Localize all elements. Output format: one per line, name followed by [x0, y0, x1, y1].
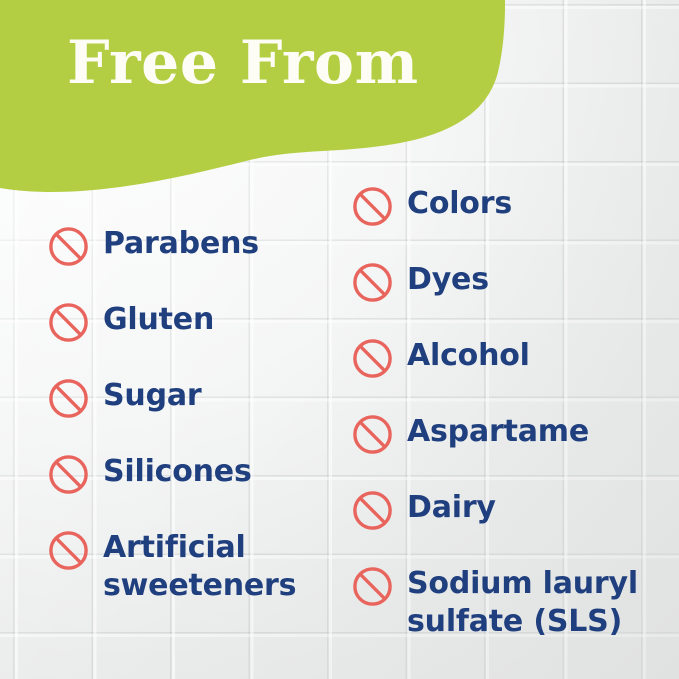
list-item-label: Parabens	[103, 225, 259, 263]
list-item: Artificial sweeteners	[48, 526, 348, 576]
list-item: Gluten	[48, 298, 348, 348]
prohibition-icon	[352, 490, 393, 531]
list-item: Dairy	[352, 486, 672, 536]
prohibition-icon	[48, 378, 89, 419]
list-item-label: Sodium lauryl sulfate (SLS)	[407, 565, 638, 641]
list-item: Parabens	[48, 222, 348, 272]
list-item-label: Alcohol	[407, 337, 530, 375]
list-item-label: Colors	[407, 185, 512, 223]
prohibition-icon	[48, 454, 89, 495]
prohibition-icon	[352, 338, 393, 379]
list-item-label: Aspartame	[407, 413, 589, 451]
free-from-list-left: Parabens Gluten Sugar	[48, 222, 348, 602]
list-item-label: Sugar	[103, 377, 201, 415]
list-item: Sugar	[48, 374, 348, 424]
prohibition-icon	[352, 566, 393, 607]
list-item-label: Gluten	[103, 301, 214, 339]
list-item-label: Artificial sweeteners	[103, 529, 296, 605]
list-item-label: Dairy	[407, 489, 496, 527]
page-title: Free From	[67, 33, 419, 93]
list-item: Sodium lauryl sulfate (SLS)	[352, 562, 672, 612]
list-item: Colors	[352, 182, 672, 232]
list-item: Dyes	[352, 258, 672, 308]
prohibition-icon	[48, 302, 89, 343]
prohibition-icon	[352, 262, 393, 303]
prohibition-icon	[352, 186, 393, 227]
list-item-label: Dyes	[407, 261, 489, 299]
free-from-list-right: Colors Dyes Alcohol	[352, 182, 672, 638]
list-item-label: Silicones	[103, 453, 252, 491]
prohibition-icon	[352, 414, 393, 455]
prohibition-icon	[48, 226, 89, 267]
free-from-infographic: Free From Parabens Gluten	[0, 0, 679, 679]
list-item: Aspartame	[352, 410, 672, 460]
list-item: Silicones	[48, 450, 348, 500]
list-item: Alcohol	[352, 334, 672, 384]
prohibition-icon	[48, 530, 89, 571]
